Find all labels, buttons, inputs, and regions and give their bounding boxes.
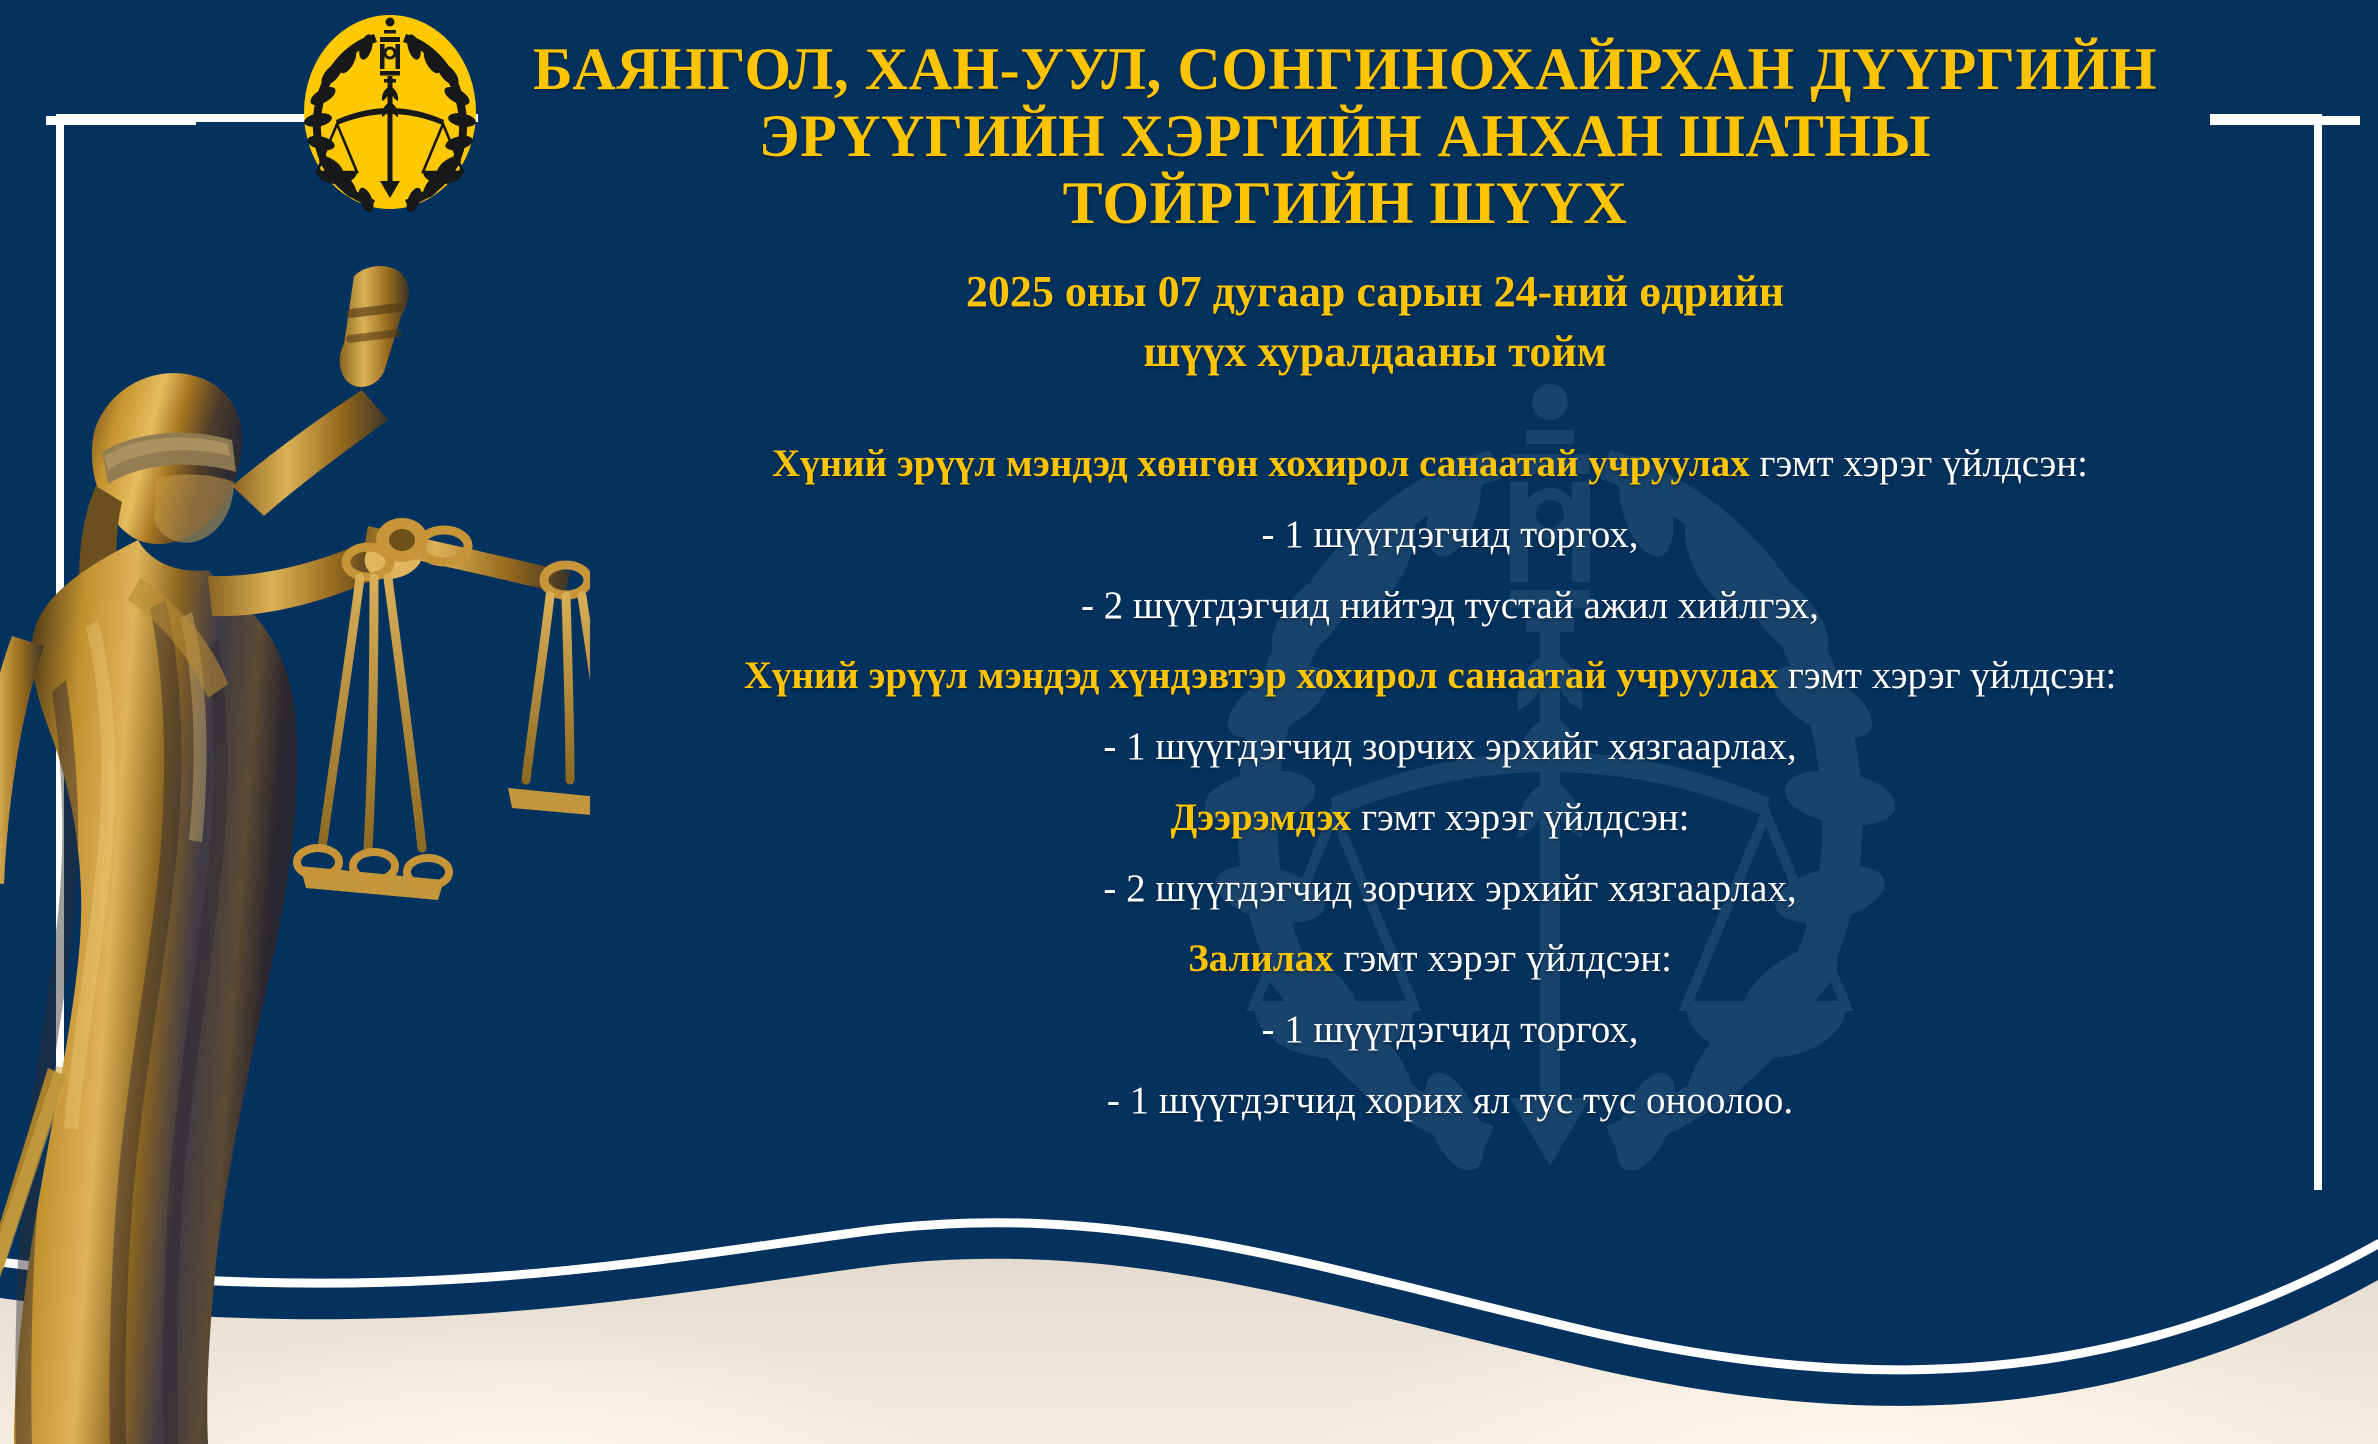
sentence-item: - 1 шүүгдэгчид хорих ял тус тус оноолоо. [560, 1077, 2300, 1126]
crime-heading-suffix: гэмт хэрэг үйлдсэн: [1778, 654, 2116, 697]
crime-name: Хүний эрүүл мэндэд хүндэвтэр хохирол сан… [744, 654, 1778, 697]
sentence-item: - 2 шүүгдэгчид зорчих эрхийг хязгаарлах, [560, 865, 2300, 914]
title-line-2: ЭРҮҮГИЙН ХЭРГИЙН АНХАН ШАТНЫ [500, 103, 2190, 170]
sentence-item: - 1 шүүгдэгчид зорчих эрхийг хязгаарлах, [560, 723, 2300, 772]
subtitle-line-1: 2025 оны 07 дугаар сарын 24-ний өдрийн [700, 262, 2050, 322]
crime-heading: Дээрэмдэх гэмт хэрэг үйлдсэн: [560, 794, 2300, 843]
subtitle-line-2: шүүх хуралдааны тойм [700, 322, 2050, 382]
sentence-item: - 2 шүүгдэгчид нийтэд тустай ажил хийлгэ… [560, 582, 2300, 631]
crime-heading: Залилах гэмт хэрэг үйлдсэн: [560, 935, 2300, 984]
header-rule-left [46, 116, 196, 125]
crime-heading-suffix: гэмт хэрэг үйлдсэн: [1351, 796, 1689, 839]
crime-heading: Хүний эрүүл мэндэд хүндэвтэр хохирол сан… [560, 652, 2300, 701]
crime-heading-suffix: гэмт хэрэг үйлдсэн: [1334, 937, 1672, 980]
subtitle-date: 2025 оны 07 дугаар сарын 24-ний өдрийн ш… [700, 262, 2050, 382]
crime-name: Залилах [1188, 937, 1334, 980]
crime-name: Хүний эрүүл мэндэд хөнгөн хохирол санаат… [772, 442, 1750, 485]
header-rule-right [2210, 116, 2360, 125]
poster-canvas: БАЯНГОЛ, ХАН-УУЛ, СОНГИНОХАЙРХАН ДҮҮРГИЙ… [0, 0, 2378, 1444]
crime-heading: Хүний эрүүл мэндэд хөнгөн хохирол санаат… [560, 440, 2300, 489]
crime-name: Дээрэмдэх [1170, 796, 1351, 839]
mongolian-court-emblem [300, 12, 480, 212]
title-line-3: ТОЙРГИЙН ШҮҮХ [500, 170, 2190, 237]
sentence-item: - 1 шүүгдэгчид торгох, [560, 511, 2300, 560]
page-title: БАЯНГОЛ, ХАН-УУЛ, СОНГИНОХАЙРХАН ДҮҮРГИЙ… [500, 36, 2190, 238]
crime-heading-suffix: гэмт хэрэг үйлдсэн: [1750, 442, 2088, 485]
title-line-1: БАЯНГОЛ, ХАН-УУЛ, СОНГИНОХАЙРХАН ДҮҮРГИЙ… [500, 36, 2190, 103]
summary-list: Хүний эрүүл мэндэд хөнгөн хохирол санаат… [560, 440, 2300, 1148]
sentence-item: - 1 шүүгдэгчид торгох, [560, 1006, 2300, 1055]
